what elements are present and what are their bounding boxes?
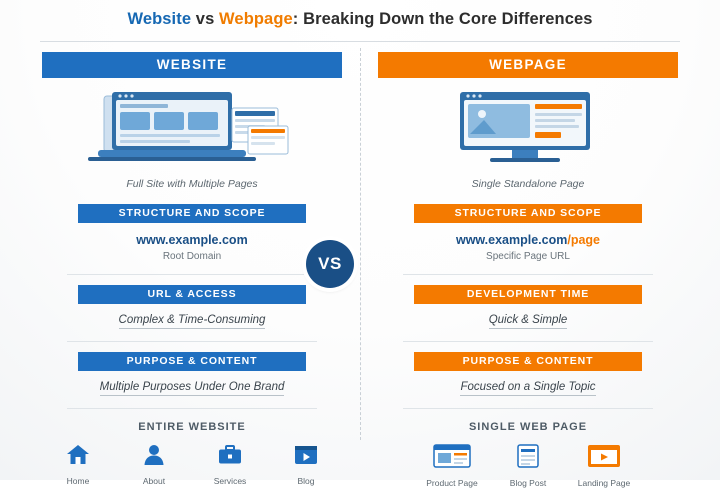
- footer-label-blog: Blog: [279, 476, 333, 486]
- webpage-section-3-bar: PURPOSE & CONTENT: [414, 352, 642, 371]
- monitor-single-page-icon: [378, 90, 678, 168]
- home-icon: [65, 443, 91, 467]
- title-vs: vs: [191, 10, 219, 28]
- website-divider-2: [67, 341, 317, 342]
- webpage-header: WEBPAGE: [378, 52, 678, 78]
- webpage-footer-icons: Product Page Blog Post Landing P: [378, 443, 678, 488]
- website-section-2-value: Complex & Time-Consuming: [119, 314, 266, 329]
- footer-label-about: About: [127, 476, 181, 486]
- column-webpage: WEBPAGE Single Standalone Page STRUCT: [378, 52, 678, 488]
- webpage-section-3-value-wrap: Focused on a Single Topic: [378, 381, 678, 396]
- webpage-illustration: [378, 90, 678, 168]
- product-page-icon: [431, 443, 473, 469]
- webpage-section-3-value: Focused on a Single Topic: [460, 381, 595, 396]
- webpage-section-1-sub: Specific Page URL: [378, 251, 678, 262]
- footer-label-services: Services: [203, 476, 257, 486]
- title-website: Website: [127, 10, 191, 28]
- blog-post-icon: [507, 443, 549, 469]
- webpage-section-1-value: www.example.com/page: [378, 233, 678, 247]
- webpage-section-1-bar: STRUCTURE AND SCOPE: [414, 204, 642, 223]
- title-divider: [40, 41, 680, 42]
- website-header: WEBSITE: [42, 52, 342, 78]
- website-divider-1: [67, 274, 317, 275]
- website-section-1-bar: STRUCTURE AND SCOPE: [78, 204, 306, 223]
- center-divider: [360, 48, 361, 440]
- website-section-1-sub: Root Domain: [42, 251, 342, 262]
- website-section-3-value-wrap: Multiple Purposes Under One Brand: [42, 381, 342, 396]
- webpage-divider-3: [403, 408, 653, 409]
- webpage-section-2-bar: DEVELOPMENT TIME: [414, 285, 642, 304]
- website-illustration-caption: Full Site with Multiple Pages: [42, 178, 342, 190]
- landing-page-icon: [583, 443, 625, 469]
- laptop-multi-page-icon: [42, 90, 342, 168]
- footer-item-landing-page[interactable]: Landing Page: [577, 443, 631, 488]
- footer-label-home: Home: [51, 476, 105, 486]
- website-section-2-bar: URL & ACCESS: [78, 285, 306, 304]
- webpage-url-accent: /page: [567, 233, 600, 247]
- title-rest: : Breaking Down the Core Differences: [293, 10, 593, 28]
- webpage-illustration-caption: Single Standalone Page: [378, 178, 678, 190]
- website-divider-3: [67, 408, 317, 409]
- website-section-1-value: www.example.com: [42, 233, 342, 247]
- footer-item-blog-post[interactable]: Blog Post: [501, 443, 555, 488]
- footer-item-product-page[interactable]: Product Page: [425, 443, 479, 488]
- website-illustration: [42, 90, 342, 168]
- website-section-3-value: Multiple Purposes Under One Brand: [100, 381, 285, 396]
- person-icon: [141, 443, 167, 467]
- website-section-3-bar: PURPOSE & CONTENT: [78, 352, 306, 371]
- infographic-root: Website vs Webpage: Breaking Down the Co…: [0, 0, 720, 480]
- webpage-footer-title: SINGLE WEB PAGE: [378, 421, 678, 433]
- title-webpage: Webpage: [219, 10, 293, 28]
- webpage-section-2-value-wrap: Quick & Simple: [378, 314, 678, 329]
- play-card-icon: [293, 443, 319, 467]
- webpage-url-base: www.example.com: [456, 233, 567, 247]
- website-footer-title: ENTIRE WEBSITE: [42, 421, 342, 433]
- webpage-section-2-value: Quick & Simple: [489, 314, 568, 329]
- briefcase-icon: [217, 443, 243, 467]
- column-website: WEBSITE: [42, 52, 342, 486]
- vs-badge: VS: [306, 240, 354, 288]
- webpage-divider-2: [403, 341, 653, 342]
- webpage-divider-1: [403, 274, 653, 275]
- page-title: Website vs Webpage: Breaking Down the Co…: [0, 10, 720, 29]
- website-section-2-value-wrap: Complex & Time-Consuming: [42, 314, 342, 329]
